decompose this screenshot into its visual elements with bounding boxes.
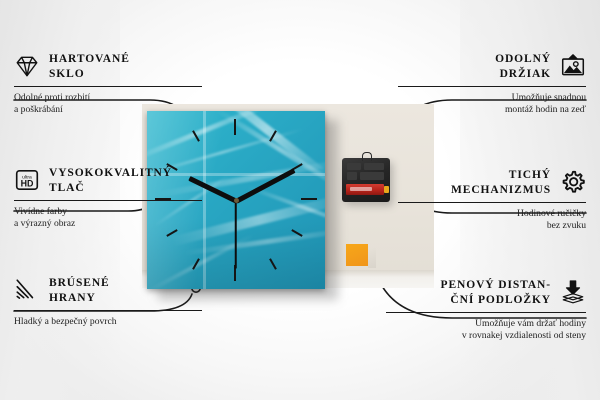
feature-title: PENOVÝ DISTAN- ČNÍ PODLOŽKY <box>441 278 551 307</box>
infographic-canvas: HARTOVANÉ SKLO Odolné proti rozbití a po… <box>0 0 600 400</box>
feature-description: Odolné proti rozbití a poškrábání <box>14 92 202 117</box>
feature-ground-edges: BRÚSENÉ HRANY Hladký a bezpečný povrch <box>14 276 202 328</box>
foam-pad <box>346 244 368 266</box>
feature-divider <box>398 86 586 87</box>
diamond-icon <box>14 53 40 79</box>
feature-description: Hladký a bezpečný povrch <box>14 316 202 328</box>
feature-description: Umožňuje vám držať hodiny v rovnakej vzd… <box>386 318 586 343</box>
feature-title: HARTOVANÉ SKLO <box>49 52 130 81</box>
feature-durable-hanger: ODOLNÝ DRŽIAK Umožňuje snadnou montáž ho… <box>398 52 586 117</box>
feature-divider <box>14 86 202 87</box>
feature-description: Umožňuje snadnou montáž hodin na zeď <box>398 92 586 117</box>
feature-divider <box>14 200 202 201</box>
feature-foam-spacers: PENOVÝ DISTAN- ČNÍ PODLOŽKY Umožňuje vám… <box>386 278 586 343</box>
feature-title: TICHÝ MECHANIZMUS <box>451 168 551 197</box>
feature-high-quality-print: ultra HD VYSOKOKVALITNÝ TLAČ Vivídne far… <box>14 166 202 231</box>
svg-text:HD: HD <box>21 179 34 189</box>
clock-mechanism <box>342 158 390 202</box>
clock-center-cap <box>234 198 239 203</box>
feature-divider <box>398 202 586 203</box>
stacked-layers-arrow-icon <box>560 279 586 305</box>
feature-title: ODOLNÝ DRŽIAK <box>495 52 551 81</box>
feature-description: Hodinové ručičky bez zvuku <box>398 208 586 233</box>
clock-second-hand <box>235 200 237 268</box>
mechanism-shaft <box>362 152 372 161</box>
feature-divider <box>14 310 202 311</box>
foam-pad-backing <box>368 248 376 268</box>
feature-title: VYSOKOKVALITNÝ TLAČ <box>49 166 172 195</box>
ultra-hd-icon: ultra HD <box>14 167 40 193</box>
picture-hanger-icon <box>560 53 586 79</box>
gear-icon <box>560 169 586 195</box>
ground-edges-icon <box>14 277 40 303</box>
feature-divider <box>386 312 586 313</box>
mechanism-battery <box>346 184 384 195</box>
feature-description: Vivídne farby a výrazný obraz <box>14 206 202 231</box>
battery-positive-tip <box>384 186 389 193</box>
feature-tempered-glass: HARTOVANÉ SKLO Odolné proti rozbití a po… <box>14 52 202 117</box>
feature-silent-mechanism: TICHÝ MECHANIZMUS Hodinové ručičky bez z… <box>398 168 586 233</box>
feature-title: BRÚSENÉ HRANY <box>49 276 110 305</box>
